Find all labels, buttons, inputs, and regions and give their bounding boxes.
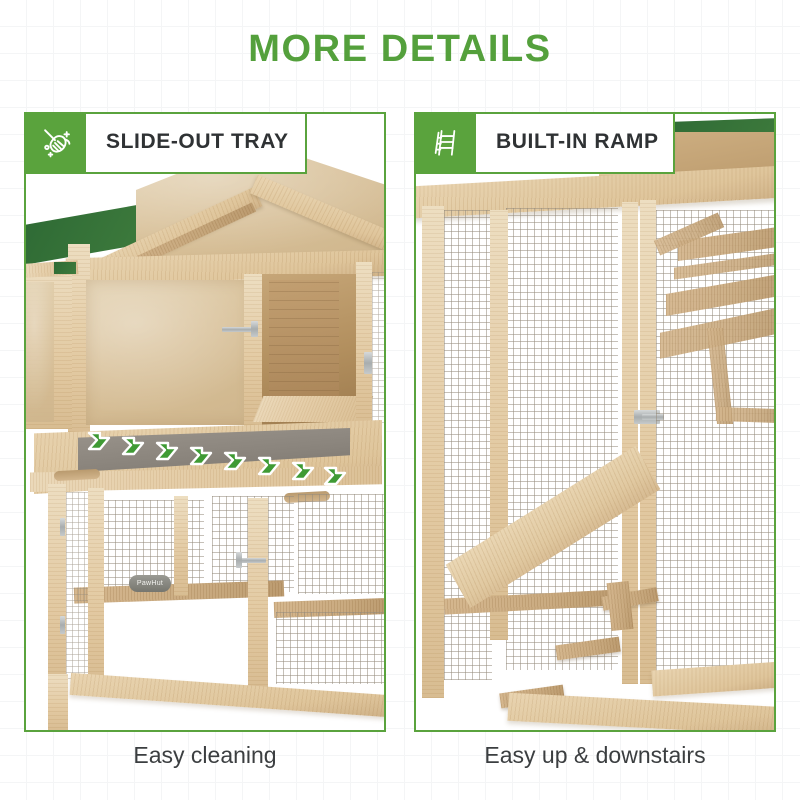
page-title: MORE DETAILS xyxy=(0,28,800,71)
run-door-hinge-top xyxy=(60,518,65,536)
brand-badge: PawHut xyxy=(129,575,171,592)
banner-slide-out-tray: SLIDE-OUT TRAY xyxy=(24,112,307,174)
run-leg-left xyxy=(48,674,68,730)
run-door-right-stile xyxy=(88,488,104,688)
hutch-door-right-frame xyxy=(356,262,372,434)
run-upright-left xyxy=(422,206,444,698)
cleaning-brush-icon xyxy=(24,112,86,172)
banner-built-in-ramp: BUILT-IN RAMP xyxy=(414,112,675,174)
tray-direction-arrow xyxy=(290,460,316,482)
tray-direction-arrow xyxy=(322,465,348,487)
tray-direction-arrow xyxy=(154,440,180,462)
tray-direction-arrow xyxy=(86,430,112,452)
run-door-hinge-bottom xyxy=(60,616,65,634)
run-door-mesh xyxy=(66,492,88,682)
run-door-latch-pin[interactable] xyxy=(236,552,242,568)
run-door-latch[interactable] xyxy=(238,558,266,563)
ladder-icon xyxy=(414,112,476,172)
door-hinge-right xyxy=(364,352,372,374)
tray-direction-arrow xyxy=(120,435,146,457)
caption-slide-out-tray: Easy cleaning xyxy=(24,742,386,769)
panel-slide-out-tray: PawHut SLIDE-OUT TRAY xyxy=(24,112,386,732)
interior-rail-right xyxy=(716,407,774,423)
door-latch-keeper[interactable] xyxy=(251,321,258,337)
run-post-latch xyxy=(248,498,268,693)
photo-built-in-ramp xyxy=(416,114,774,730)
run-mesh-back-right xyxy=(298,494,384,594)
caption-built-in-ramp: Easy up & downstairs xyxy=(414,742,776,769)
banner-label-built-in-ramp: BUILT-IN RAMP xyxy=(476,112,673,172)
side-panel-left-face xyxy=(26,282,54,422)
run-mesh-lower-right xyxy=(276,612,384,684)
tray-direction-arrow xyxy=(256,455,282,477)
tray-direction-arrow xyxy=(188,445,214,467)
hutch-door-right-mesh xyxy=(372,272,384,424)
hutch-door-panel xyxy=(86,280,251,425)
run-base-rail-front xyxy=(507,693,774,730)
side-panel-felt xyxy=(54,262,76,274)
run-post-center xyxy=(174,496,188,596)
tray-direction-arrow xyxy=(222,450,248,472)
run-door-left-stile xyxy=(48,484,66,692)
photo-slide-out-tray xyxy=(26,114,384,730)
panel-built-in-ramp: BUILT-IN RAMP xyxy=(414,112,776,732)
run-door-stile-right xyxy=(640,200,656,684)
banner-label-slide-out-tray: SLIDE-OUT TRAY xyxy=(86,112,305,172)
interior-back-wall xyxy=(269,280,339,400)
